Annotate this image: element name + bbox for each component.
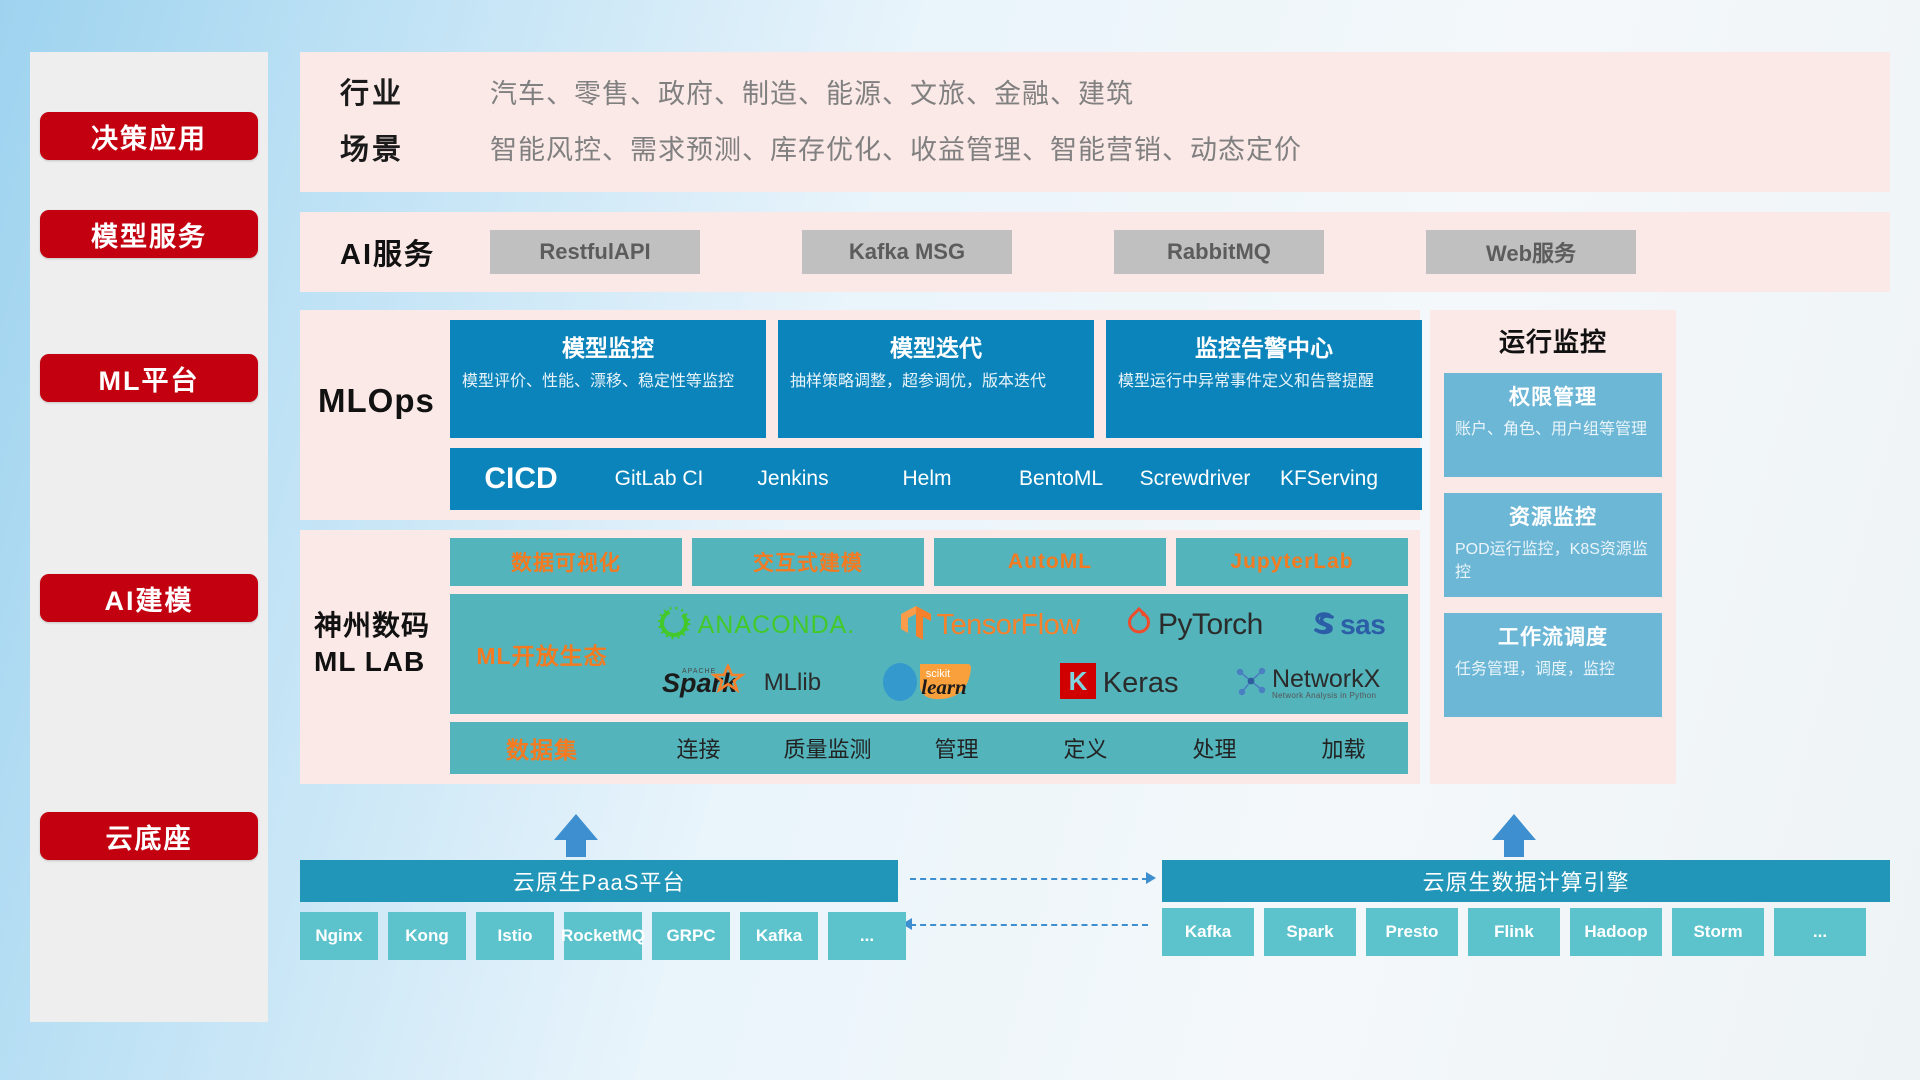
- spark-icon: Spark APACHE: [662, 664, 758, 703]
- ml-ecosystem-logos: ANACONDA. TensorFlow: [634, 594, 1408, 714]
- tensorflow-wordmark: TensorFlow: [936, 609, 1079, 642]
- mlops-card-model-monitoring[interactable]: 模型监控 模型评价、性能、漂移、稳定性等监控: [450, 320, 766, 438]
- cicd-bar: CICD GitLab CI Jenkins Helm BentoML Scre…: [450, 448, 1422, 510]
- rail-badge-0[interactable]: 决策应用: [40, 112, 258, 160]
- sas-wordmark: sas: [1340, 609, 1385, 641]
- ml-lab-label-line1: 神州数码: [314, 608, 450, 644]
- cloud-chip-presto[interactable]: Presto: [1366, 908, 1458, 956]
- arrow-up-left-icon: [554, 814, 598, 840]
- logo-sas: sas: [1308, 608, 1385, 643]
- cicd-item-gitlab-ci[interactable]: GitLab CI: [592, 466, 726, 492]
- svg-text:K: K: [1068, 666, 1087, 696]
- ai-service-chip-kafka-msg[interactable]: Kafka MSG: [802, 230, 1012, 274]
- sas-icon: [1308, 608, 1338, 643]
- mlops-band: MLOps 模型监控 模型评价、性能、漂移、稳定性等监控 模型迭代 抽样策略调整…: [300, 310, 1420, 520]
- cloud-chip-rocketmq[interactable]: RocketMQ: [564, 912, 642, 960]
- industry-row: 行业 汽车、零售、政府、制造、能源、文旅、金融、建筑: [340, 70, 1890, 112]
- anaconda-icon: [657, 606, 691, 645]
- tab-interactive-modeling[interactable]: 交互式建模: [692, 538, 924, 586]
- cloud-chip-hadoop[interactable]: Hadoop: [1570, 908, 1662, 956]
- cloud-chip-more[interactable]: ...: [828, 912, 906, 960]
- mlops-cards: 模型监控 模型评价、性能、漂移、稳定性等监控 模型迭代 抽样策略调整，超参调优，…: [450, 320, 1422, 438]
- logo-pytorch: PyTorch: [1125, 607, 1263, 644]
- tab-jupyterlab[interactable]: JupyterLab: [1176, 538, 1408, 586]
- ml-lab-label: 神州数码 ML LAB: [300, 530, 450, 680]
- rail-badge-3[interactable]: AI建模: [40, 574, 258, 622]
- mlops-card-model-iteration[interactable]: 模型迭代 抽样策略调整，超参调优，版本迭代: [778, 320, 1094, 438]
- ops-card-desc: POD运行监控，K8S资源监控: [1455, 538, 1651, 584]
- cicd-label: CICD: [450, 462, 592, 496]
- networkx-wordmark: NetworkX: [1272, 667, 1380, 692]
- logo-keras: K Keras: [1060, 663, 1179, 704]
- ml-lab-tabs: 数据可视化 交互式建模 AutoML JupyterLab: [450, 538, 1408, 586]
- logo-tensorflow: TensorFlow: [900, 605, 1079, 646]
- ops-card-title: 工作流调度: [1455, 621, 1651, 651]
- scenario-value: 智能风控、需求预测、库存优化、收益管理、智能营销、动态定价: [490, 128, 1302, 167]
- mlops-card-desc: 模型运行中异常事件定义和告警提醒: [1118, 371, 1410, 394]
- pytorch-wordmark: PyTorch: [1158, 608, 1263, 642]
- logo-scikit-learn: scikit learn: [876, 661, 1004, 706]
- cicd-item-helm[interactable]: Helm: [860, 466, 994, 492]
- left-rail: 决策应用模型服务ML平台AI建模云底座: [30, 52, 268, 1022]
- tensorflow-icon: [900, 605, 932, 646]
- mlops-card-title: 监控告警中心: [1118, 329, 1410, 363]
- scenario-label: 场景: [340, 126, 490, 168]
- svg-text:learn: learn: [922, 675, 968, 699]
- ai-service-chip-restfulapi[interactable]: RestfulAPI: [490, 230, 700, 274]
- cloud-foundation-section: 云原生PaaS平台 云原生数据计算引擎 Nginx Kong Istio Roc…: [300, 814, 1890, 994]
- mlops-card-alert-center[interactable]: 监控告警中心 模型运行中异常事件定义和告警提醒: [1106, 320, 1422, 438]
- cloud-chip-nginx[interactable]: Nginx: [300, 912, 378, 960]
- ml-ecosystem-label: ML开放生态: [450, 594, 634, 714]
- ai-service-chip-rabbitmq[interactable]: RabbitMQ: [1114, 230, 1324, 274]
- cloud-chip-grpc[interactable]: GRPC: [652, 912, 730, 960]
- ai-services-label: AI服务: [340, 231, 490, 273]
- industry-label: 行业: [340, 70, 490, 112]
- arrow-stem-right-icon: [1504, 839, 1524, 857]
- cloud-paas-bar[interactable]: 云原生PaaS平台: [300, 860, 898, 902]
- cloud-chip-istio[interactable]: Istio: [476, 912, 554, 960]
- logo-anaconda: ANACONDA.: [657, 606, 856, 645]
- dataset-item-load[interactable]: 加载: [1279, 732, 1408, 764]
- decision-apps-band: 行业 汽车、零售、政府、制造、能源、文旅、金融、建筑 场景 智能风控、需求预测、…: [300, 52, 1890, 192]
- cloud-chip-kafka-right[interactable]: Kafka: [1162, 908, 1254, 956]
- cicd-item-kfserving[interactable]: KFServing: [1262, 466, 1396, 492]
- ai-services-band: AI服务 RestfulAPI Kafka MSG RabbitMQ Web服务: [300, 212, 1890, 292]
- cloud-chip-kong[interactable]: Kong: [388, 912, 466, 960]
- cloud-left-chips: Nginx Kong Istio RocketMQ GRPC Kafka ...: [300, 912, 906, 960]
- ml-lab-band: 神州数码 ML LAB 数据可视化 交互式建模 AutoML JupyterLa…: [300, 530, 1420, 784]
- dataset-item-process[interactable]: 处理: [1150, 732, 1279, 764]
- tab-automl[interactable]: AutoML: [934, 538, 1166, 586]
- logo-networkx: NetworkX Network Analysis in Python: [1234, 664, 1380, 703]
- logo-line-2: Spark APACHE MLlib: [634, 656, 1408, 710]
- ops-card-title: 资源监控: [1455, 501, 1651, 531]
- anaconda-wordmark: ANACONDA.: [698, 611, 856, 640]
- scikit-learn-icon: scikit learn: [876, 661, 1004, 706]
- logo-line-1: ANACONDA. TensorFlow: [634, 598, 1408, 652]
- mlops-label: MLOps: [300, 310, 450, 420]
- dataset-row: 数据集 连接 质量监测 管理 定义 处理 加载: [450, 722, 1408, 774]
- mlops-card-title: 模型监控: [462, 329, 754, 363]
- cloud-chip-more-right[interactable]: ...: [1774, 908, 1866, 956]
- keras-icon: K: [1060, 663, 1096, 704]
- rail-badge-4[interactable]: 云底座: [40, 812, 258, 860]
- ops-card-desc: 任务管理，调度，监控: [1455, 658, 1651, 681]
- ml-ecosystem-row: ML开放生态 ANACONDA.: [450, 594, 1408, 714]
- ops-card-permission-management[interactable]: 权限管理 账户、角色、用户组等管理: [1444, 373, 1662, 477]
- dash-connector-top: [910, 878, 1148, 880]
- cloud-chip-storm[interactable]: Storm: [1672, 908, 1764, 956]
- dataset-item-manage[interactable]: 管理: [892, 732, 1021, 764]
- networkx-wordmark-wrap: NetworkX Network Analysis in Python: [1272, 667, 1380, 700]
- cicd-item-jenkins[interactable]: Jenkins: [726, 466, 860, 492]
- dataset-item-connect[interactable]: 连接: [634, 732, 763, 764]
- mlops-content: 模型监控 模型评价、性能、漂移、稳定性等监控 模型迭代 抽样策略调整，超参调优，…: [450, 310, 1436, 520]
- runtime-monitoring-panel: 运行监控 权限管理 账户、角色、用户组等管理 资源监控 POD运行监控，K8S资…: [1430, 310, 1676, 784]
- dataset-item-define[interactable]: 定义: [1021, 732, 1150, 764]
- ml-lab-label-line2: ML LAB: [314, 644, 450, 680]
- networkx-subtitle: Network Analysis in Python: [1272, 692, 1380, 700]
- cloud-chip-spark[interactable]: Spark: [1264, 908, 1356, 956]
- cloud-right-chips: Kafka Spark Presto Flink Hadoop Storm ..…: [1162, 908, 1866, 956]
- ai-service-chip-web[interactable]: Web服务: [1426, 230, 1636, 274]
- dash-connector-bottom: [910, 924, 1148, 926]
- mlops-card-desc: 模型评价、性能、漂移、稳定性等监控: [462, 371, 754, 394]
- ml-lab-content: 数据可视化 交互式建模 AutoML JupyterLab ML开放生态 ANA…: [450, 530, 1422, 782]
- dash-arrowhead-right-icon: [1146, 872, 1156, 884]
- keras-wordmark: Keras: [1103, 667, 1179, 700]
- industry-value: 汽车、零售、政府、制造、能源、文旅、金融、建筑: [490, 72, 1134, 111]
- cloud-chip-kafka[interactable]: Kafka: [740, 912, 818, 960]
- rail-badge-1[interactable]: 模型服务: [40, 210, 258, 258]
- ops-card-workflow-scheduling[interactable]: 工作流调度 任务管理，调度，监控: [1444, 613, 1662, 717]
- ops-card-desc: 账户、角色、用户组等管理: [1455, 418, 1651, 441]
- dataset-label: 数据集: [450, 731, 634, 765]
- ops-card-title: 权限管理: [1455, 381, 1651, 411]
- logo-spark-mllib: Spark APACHE MLlib: [662, 664, 821, 703]
- arrow-up-right-icon: [1492, 814, 1536, 840]
- dataset-item-quality-monitoring[interactable]: 质量监测: [763, 732, 892, 764]
- pytorch-icon: [1125, 607, 1153, 644]
- cloud-chip-flink[interactable]: Flink: [1468, 908, 1560, 956]
- runtime-monitoring-title: 运行监控: [1444, 322, 1662, 359]
- networkx-icon: [1234, 664, 1268, 703]
- arrow-stem-left-icon: [566, 839, 586, 857]
- scenario-row: 场景 智能风控、需求预测、库存优化、收益管理、智能营销、动态定价: [340, 126, 1890, 168]
- cicd-item-bentoml[interactable]: BentoML: [994, 466, 1128, 492]
- rail-badge-2[interactable]: ML平台: [40, 354, 258, 402]
- ops-card-resource-monitoring[interactable]: 资源监控 POD运行监控，K8S资源监控: [1444, 493, 1662, 597]
- ai-services-chips: RestfulAPI Kafka MSG RabbitMQ Web服务: [490, 230, 1636, 274]
- cicd-item-screwdriver[interactable]: Screwdriver: [1128, 466, 1262, 492]
- mlops-card-desc: 抽样策略调整，超参调优，版本迭代: [790, 371, 1082, 394]
- mlops-card-title: 模型迭代: [790, 329, 1082, 363]
- tab-data-visualization[interactable]: 数据可视化: [450, 538, 682, 586]
- mllib-wordmark: MLlib: [764, 669, 821, 697]
- cloud-data-engine-bar[interactable]: 云原生数据计算引擎: [1162, 860, 1890, 902]
